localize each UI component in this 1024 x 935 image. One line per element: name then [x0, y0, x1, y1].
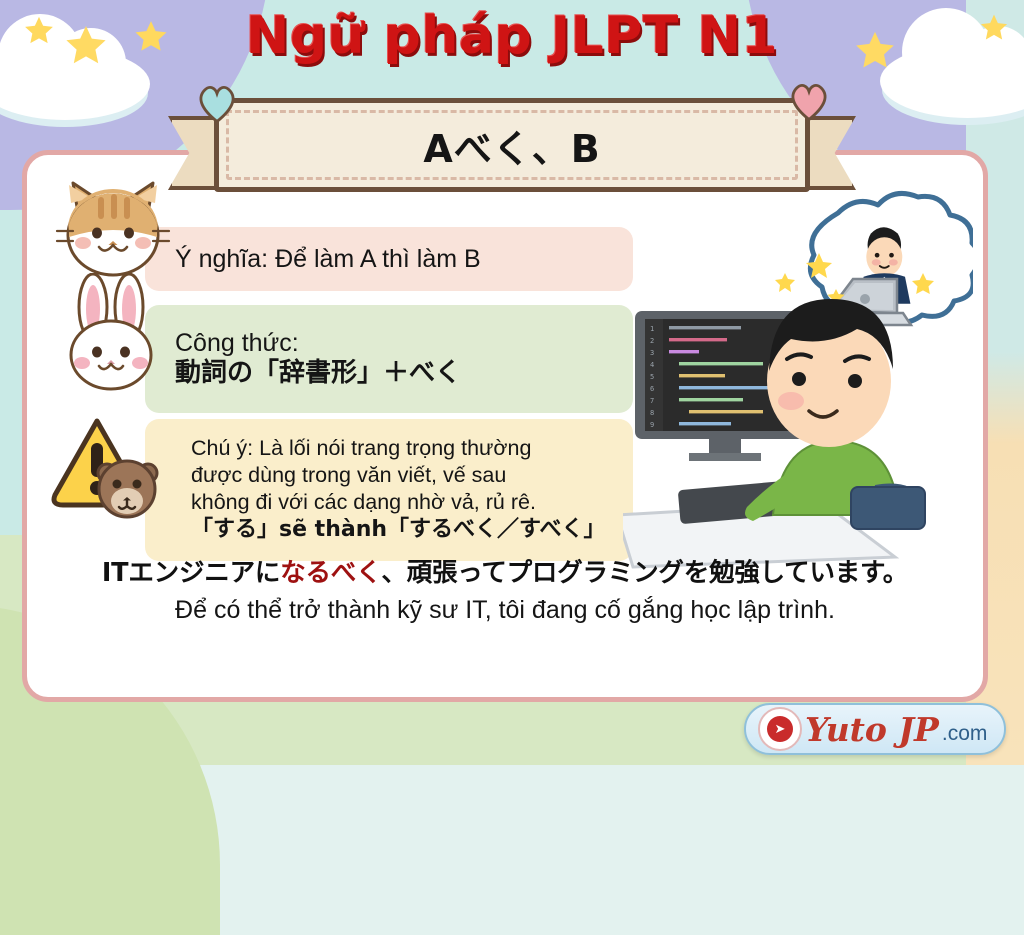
row-formula-bar: Công thức: 動詞の「辞書形」＋べく — [145, 305, 633, 413]
row-note: Chú ý: Là lối nói trang trọng thường đượ… — [45, 419, 625, 555]
heart-icon-left — [196, 84, 238, 124]
row-meaning-bar: Ý nghĩa: Để làm A thì làm B — [145, 227, 633, 291]
example-jp-highlight: なるべく — [280, 558, 381, 588]
svg-text:2: 2 — [650, 337, 654, 345]
content-card: Ý nghĩa: Để làm A thì làm B — [22, 150, 988, 702]
example-japanese: ITエンジニアになるべく、頑張ってプログラミングを勉強しています。 — [27, 552, 983, 589]
svg-text:4: 4 — [650, 361, 654, 369]
svg-text:6: 6 — [650, 385, 654, 393]
info-rows: Ý nghĩa: Để làm A thì làm B — [45, 213, 625, 569]
heart-icon-right — [788, 82, 830, 122]
example-block: ITエンジニアになるべく、頑張ってプログラミングを勉強しています。 Để có … — [27, 552, 983, 625]
infographic-canvas: Ngữ pháp JLPT N1 — [0, 0, 1024, 765]
svg-text:9: 9 — [650, 421, 654, 429]
rabbit-icon — [53, 273, 171, 395]
svg-text:3: 3 — [650, 349, 654, 357]
row-formula-label: Công thức: — [175, 329, 619, 358]
site-logo[interactable]: ➤ Yuto JP .com — [744, 703, 1006, 755]
example-vietnamese: Để có thể trở thành kỹ sư IT, tôi đang c… — [27, 596, 983, 625]
cat-icon — [53, 179, 173, 283]
banner: Aべく、B — [168, 98, 856, 184]
row-formula-pattern: 動詞の「辞書形」＋べく — [175, 358, 619, 388]
logo-suffix: .com — [942, 722, 988, 746]
banner-title: Aべく、B — [219, 103, 805, 187]
logo-name: Yuto JP — [805, 710, 939, 749]
example-jp-after: 、頑張ってプログラミングを勉強しています。 — [381, 558, 908, 588]
row-note-line-3: không đi với các dạng nhờ vả, rủ rê. — [191, 489, 619, 516]
warning-bear-icon — [51, 413, 173, 531]
svg-text:1: 1 — [650, 325, 654, 333]
programmer-dreaming-illustration: 123 456 789 — [623, 185, 973, 585]
svg-text:7: 7 — [650, 397, 654, 405]
page-title: Ngữ pháp JLPT N1 — [0, 6, 1024, 66]
target-icon: ➤ — [758, 707, 802, 751]
row-note-line-4: 「する」sẽ thành「するべく／すべく」 — [191, 516, 619, 544]
row-meaning-text: Ý nghĩa: Để làm A thì làm B — [175, 245, 619, 274]
svg-text:5: 5 — [650, 373, 654, 381]
banner-plate: Aべく、B — [214, 98, 810, 192]
svg-text:8: 8 — [650, 409, 654, 417]
row-note-line-2: được dùng trong văn viết, vế sau — [191, 462, 619, 489]
example-jp-before: ITエンジニアに — [102, 558, 280, 588]
row-note-line-1: Chú ý: Là lối nói trang trọng thường — [191, 435, 619, 462]
row-note-bar: Chú ý: Là lối nói trang trọng thường đượ… — [145, 419, 633, 561]
row-formula: Công thức: 動詞の「辞書形」＋べく — [45, 299, 625, 405]
